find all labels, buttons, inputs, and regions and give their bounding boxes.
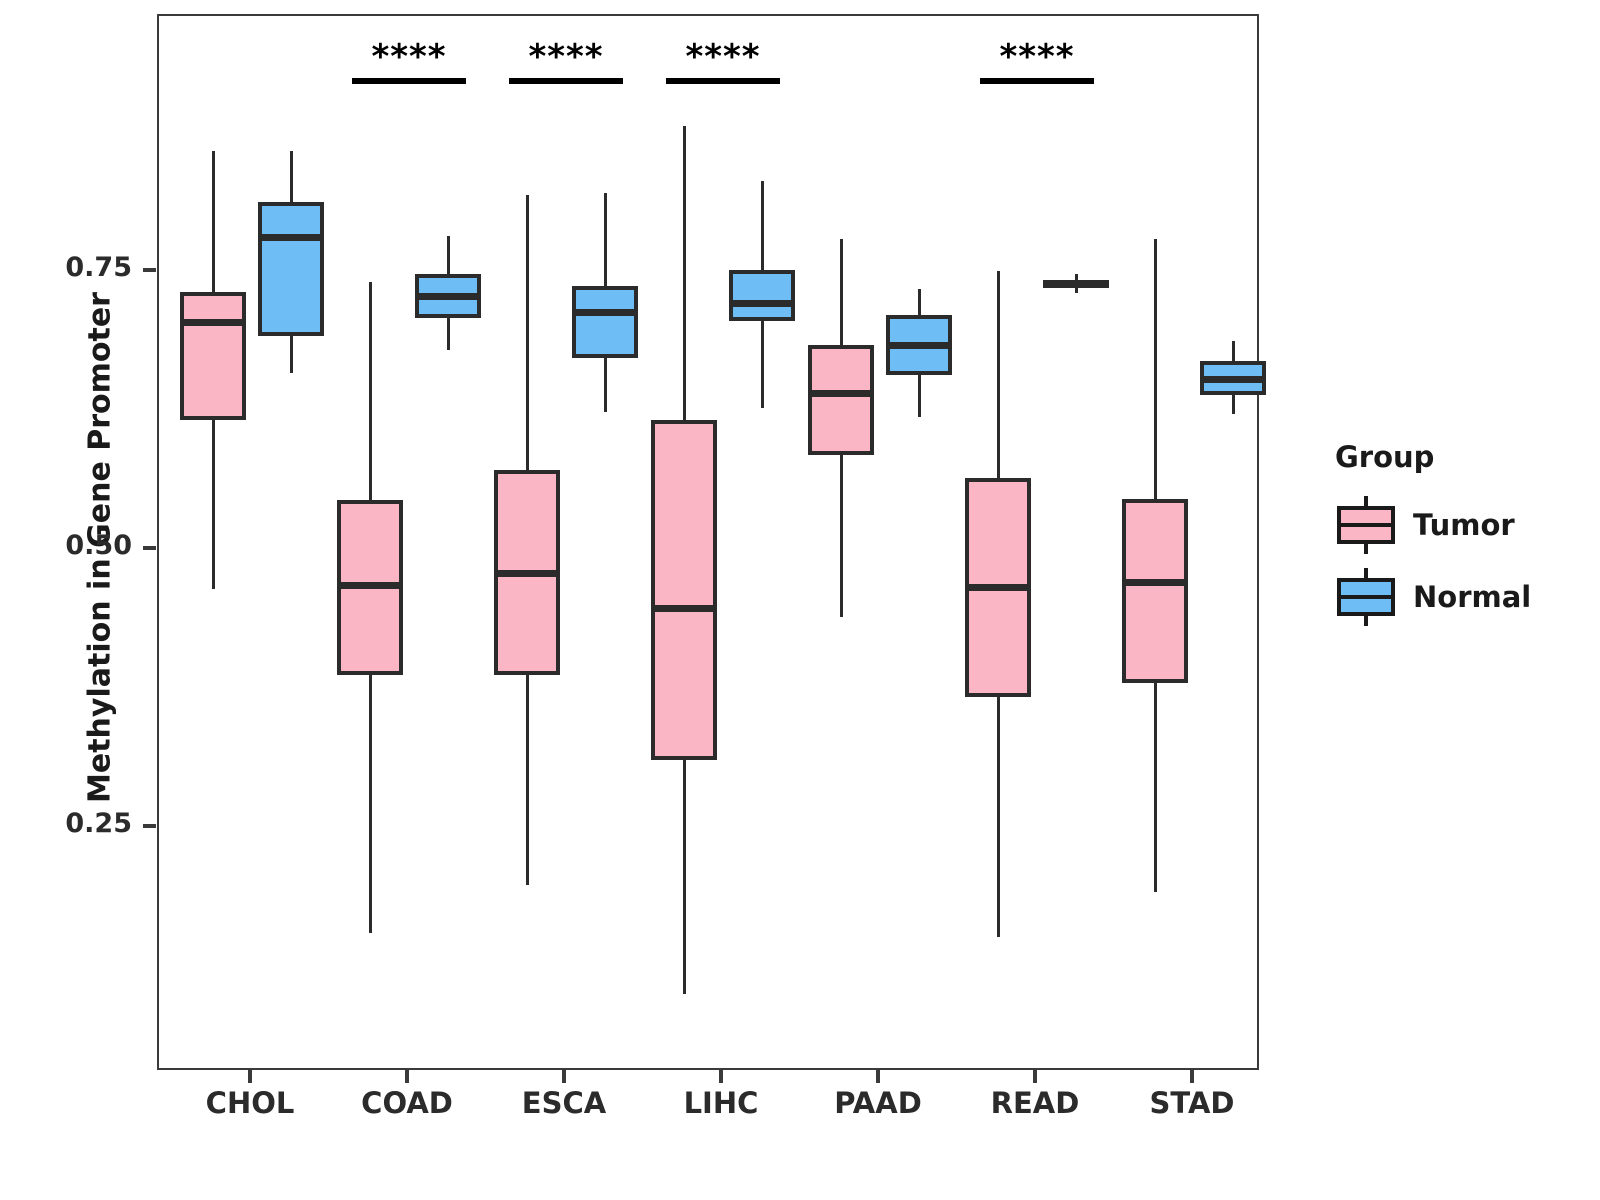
y-axis-tick-label: 0.75 <box>0 252 132 283</box>
legend-key-tumor-icon <box>1335 496 1397 554</box>
significance-stars: **** <box>633 42 813 72</box>
median-line <box>1200 376 1266 383</box>
legend-label-normal: Normal <box>1413 580 1531 614</box>
significance-stars: **** <box>319 42 499 72</box>
chart-root: Methylation in Gene Promoter 0.750.500.2… <box>0 0 1600 1200</box>
significance-bar <box>509 78 623 84</box>
x-axis-tick <box>405 1070 409 1083</box>
y-axis-tick <box>143 268 156 272</box>
y-axis-tick-label: 0.50 <box>0 530 132 561</box>
x-axis-tick <box>876 1070 880 1083</box>
y-axis-tick <box>143 824 156 828</box>
boxplot-stad-normal[interactable] <box>159 16 1257 1068</box>
significance-bar <box>980 78 1094 84</box>
legend: Group Tumor Normal <box>1335 440 1585 640</box>
plot-panel: **************** <box>157 14 1259 1070</box>
legend-title: Group <box>1335 440 1585 474</box>
x-axis-tick <box>1190 1070 1194 1083</box>
legend-item-normal[interactable]: Normal <box>1335 568 1585 626</box>
x-axis-tick <box>562 1070 566 1083</box>
significance-stars: **** <box>947 42 1127 72</box>
x-axis-tick <box>719 1070 723 1083</box>
y-axis-tick <box>143 546 156 550</box>
y-axis-tick-label: 0.25 <box>0 808 132 839</box>
x-axis-tick <box>248 1070 252 1083</box>
legend-label-tumor: Tumor <box>1413 508 1515 542</box>
significance-bar <box>666 78 780 84</box>
x-axis-tick-label-stad: STAD <box>1092 1086 1292 1120</box>
significance-stars: **** <box>476 42 656 72</box>
plot-area: **************** <box>159 16 1257 1068</box>
legend-key-normal-icon <box>1335 568 1397 626</box>
legend-item-tumor[interactable]: Tumor <box>1335 496 1585 554</box>
x-axis-tick <box>1033 1070 1037 1083</box>
significance-bar <box>352 78 466 84</box>
